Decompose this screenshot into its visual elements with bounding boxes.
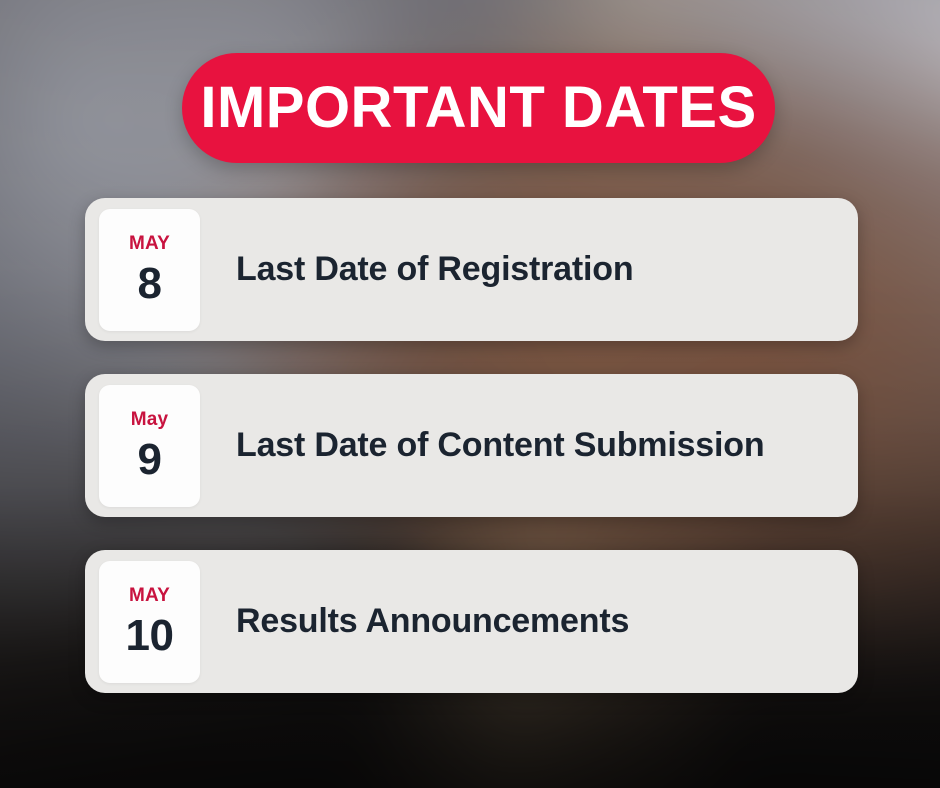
date-card-title: Last Date of Content Submission	[236, 425, 764, 465]
date-card-title: Last Date of Registration	[236, 249, 633, 289]
date-card-list: MAY 8 Last Date of Registration May 9 La…	[85, 198, 858, 693]
important-dates-poster: IMPORTANT DATES MAY 8 Last Date of Regis…	[0, 0, 940, 788]
date-day-number: 10	[126, 614, 174, 658]
date-card-registration: MAY 8 Last Date of Registration	[85, 198, 858, 341]
important-dates-banner: IMPORTANT DATES	[182, 53, 775, 163]
poster-content: IMPORTANT DATES MAY 8 Last Date of Regis…	[0, 0, 940, 788]
page-title: IMPORTANT DATES	[200, 79, 756, 137]
date-month-label: MAY	[129, 234, 170, 253]
date-month-label: May	[131, 410, 169, 429]
date-tile: MAY 8	[99, 209, 200, 331]
date-card-title: Results Announcements	[236, 601, 629, 641]
date-card-results: MAY 10 Results Announcements	[85, 550, 858, 693]
date-card-content-submission: May 9 Last Date of Content Submission	[85, 374, 858, 517]
date-day-number: 8	[138, 262, 162, 306]
date-month-label: MAY	[129, 586, 170, 605]
date-tile: May 9	[99, 385, 200, 507]
date-tile: MAY 10	[99, 561, 200, 683]
date-day-number: 9	[138, 438, 162, 482]
